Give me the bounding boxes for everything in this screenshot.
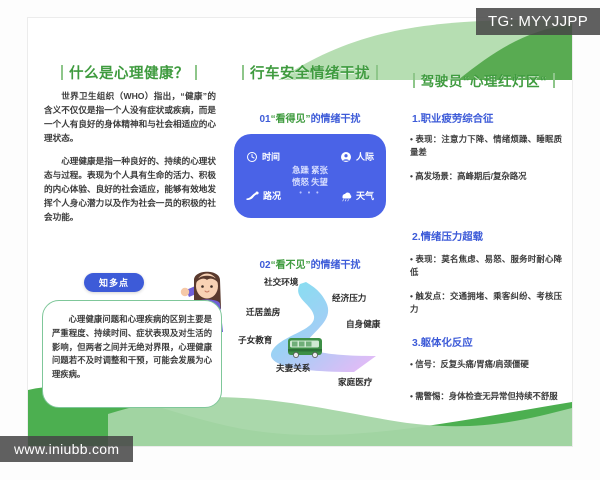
heading-bar-left-icon <box>413 73 415 88</box>
card-item-people: 人际 <box>340 150 374 163</box>
note-box-text: 心理健康问题和心理疾病的区别主要是严重程度、持续时间、症状表现及对生活的影响，但… <box>52 313 212 382</box>
middle-heading-text: 行车安全情绪干扰 <box>250 62 370 83</box>
road-label-0: 社交环境 <box>264 276 298 288</box>
subheading-01-rest: 的情绪干扰 <box>311 114 361 125</box>
middle-column-heading: 行车安全情绪干扰 <box>224 62 396 83</box>
card-item-people-label: 人际 <box>356 150 374 163</box>
card-center-dots: • • • <box>234 189 386 199</box>
heading-bar-right-icon <box>553 73 555 88</box>
right-section-1-bullet-2: 高发场景：高峰期后/复杂路况 <box>410 170 562 183</box>
heading-bar-right-icon <box>376 65 378 80</box>
column-right: 驾驶员“心理红灯区“ 1.职业疲劳综合征 表现：注意力下降、情绪烦躁、睡眠质量差… <box>400 18 568 446</box>
right-section-1-bullet-1: 表现：注意力下降、情绪烦躁、睡眠质量差 <box>410 133 562 160</box>
subheading-01-number: 01 <box>259 114 270 125</box>
road-path-graphic <box>226 276 396 388</box>
zhiduodian-pill-badge: 知多点 <box>84 273 144 292</box>
bus-icon <box>288 338 322 358</box>
card-center-text: 急躁 紧张 愤怒 失望 • • • <box>234 164 386 200</box>
column-left: 什么是心理健康？ 世界卫生组织（WHO）指出，“健康”的含义不仅仅是指一个人没有… <box>36 18 222 446</box>
left-paragraph-2: 心理健康是指一种良好的、持续的心理状态与过程。表现为个人具有生命的活力、积极的内… <box>44 155 216 225</box>
screenshot-canvas: 什么是心理健康？ 世界卫生组织（WHO）指出，“健康”的含义不仅仅是指一个人没有… <box>0 0 600 480</box>
road-label-6: 家庭医疗 <box>338 376 372 388</box>
winding-road-illustration: 社交环境 经济压力 迁居盖房 自身健康 子女教育 夫妻关系 家庭医疗 <box>226 276 396 388</box>
person-icon <box>340 151 352 163</box>
left-paragraph-1: 世界卫生组织（WHO）指出，“健康”的含义不仅仅是指一个人没有症状或疾病，而是一… <box>44 90 216 146</box>
visible-emotion-card: 时间 人际 路况 <box>234 134 386 218</box>
left-column-heading: 什么是心理健康？ <box>36 62 222 83</box>
subheading-02: 02“看不见”的情绪干扰 <box>224 256 396 271</box>
road-label-3: 自身健康 <box>346 318 380 330</box>
clock-icon <box>246 151 258 163</box>
right-section-2-bullet-1: 表现：莫名焦虑、易怒、服务时耐心降低 <box>410 253 562 280</box>
card-center-line-2: 愤怒 失望 <box>292 177 328 187</box>
right-section-3-title: 3.躯体化反应 <box>412 334 473 349</box>
heading-bar-left-icon <box>61 65 63 80</box>
column-middle: 行车安全情绪干扰 01“看得见”的情绪干扰 时间 <box>224 18 396 446</box>
right-section-3-bullet-2: 需警惕：身体检查无异常但持续不舒服 <box>410 390 562 403</box>
road-label-2: 迁居盖房 <box>246 306 280 318</box>
subheading-01: 01“看得见”的情绪干扰 <box>224 110 396 125</box>
road-label-5: 夫妻关系 <box>276 362 310 374</box>
card-center-line-1: 急躁 紧张 <box>292 165 328 175</box>
subheading-02-quoted: “看不见” <box>271 260 311 271</box>
card-item-time-label: 时间 <box>262 150 280 163</box>
site-watermark: www.iniubb.com <box>0 436 133 462</box>
right-column-heading: 驾驶员“心理红灯区“ <box>400 70 568 90</box>
road-label-1: 经济压力 <box>332 292 366 304</box>
note-box: 心理健康问题和心理疾病的区别主要是严重程度、持续时间、症状表现及对生活的影响，但… <box>42 300 222 408</box>
right-section-1-title: 1.职业疲劳综合征 <box>412 110 493 125</box>
left-heading-text: 什么是心理健康？ <box>69 62 189 83</box>
road-label-4: 子女教育 <box>238 334 272 346</box>
heading-bar-left-icon <box>242 65 244 80</box>
right-section-2-bullet-2: 触发点：交通拥堵、乘客纠纷、考核压力 <box>410 290 562 317</box>
right-heading-text: 驾驶员“心理红灯区“ <box>421 70 548 90</box>
right-section-2-title: 2.情绪压力超载 <box>412 228 483 243</box>
subheading-01-quoted: “看得见” <box>271 114 311 125</box>
subheading-02-rest: 的情绪干扰 <box>311 260 361 271</box>
telegram-watermark: TG: MYYJJPP <box>476 8 600 35</box>
heading-bar-right-icon <box>195 65 197 80</box>
card-item-time: 时间 <box>246 150 280 163</box>
subheading-02-number: 02 <box>259 260 270 271</box>
right-section-3-bullet-1: 信号：反复头痛/胃痛/肩颈僵硬 <box>410 358 562 371</box>
brochure-page: 什么是心理健康？ 世界卫生组织（WHO）指出，“健康”的含义不仅仅是指一个人没有… <box>28 18 572 446</box>
